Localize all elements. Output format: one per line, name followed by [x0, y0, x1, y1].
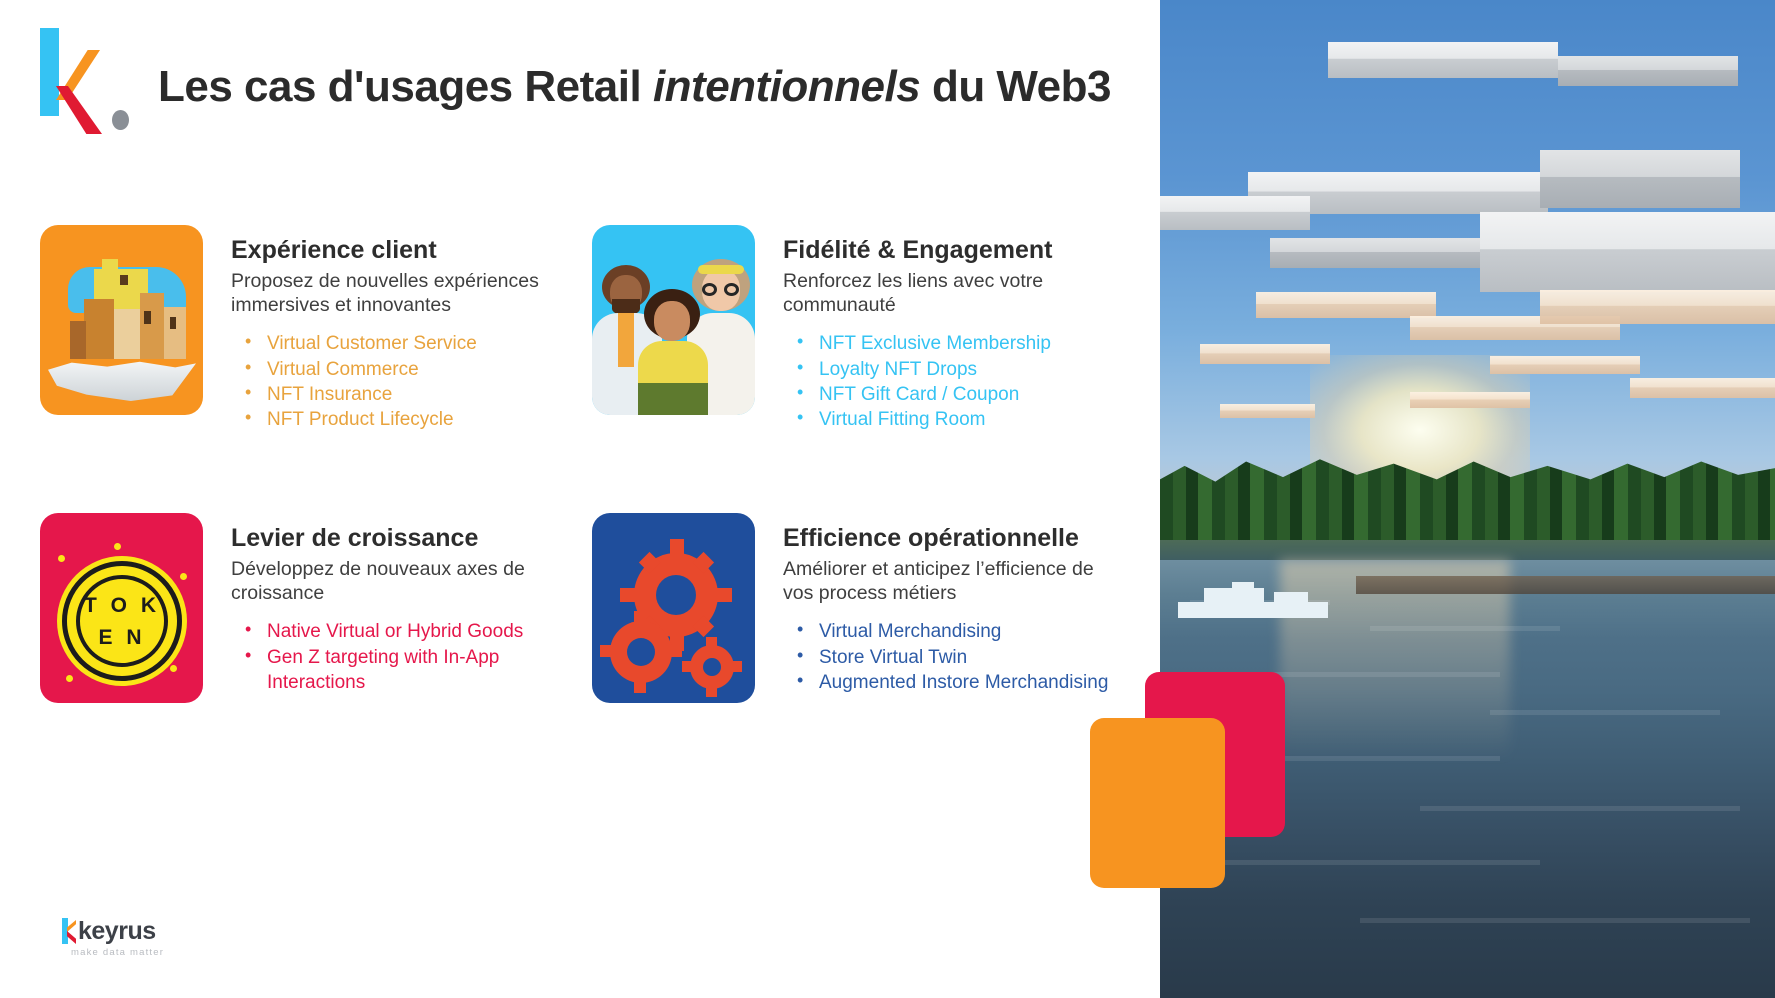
gears-icon [592, 513, 755, 703]
card-efficience-operationnelle: Efficience opérationnelle Améliorer et a… [592, 513, 1113, 703]
list-item: Native Virtual or Hybrid Goods [231, 619, 581, 644]
cloud-block [1160, 196, 1310, 230]
card-text: Fidélité & Engagement Renforcez les lien… [783, 225, 1113, 432]
cloud-block [1256, 292, 1436, 318]
voxel-sunset-lake-image [1160, 0, 1775, 998]
card-subtitle: Améliorer et anticipez l’efficience de v… [783, 557, 1113, 607]
list-item: Virtual Merchandising [783, 619, 1113, 644]
cloud-block [1220, 404, 1315, 418]
pier-structure [1356, 576, 1775, 594]
cloud-block [1410, 392, 1530, 408]
card-heading: Efficience opérationnelle [783, 525, 1113, 553]
coin-text-bottom: E N [67, 626, 177, 650]
list-item: Augmented Instore Merchandising [783, 670, 1113, 695]
floating-island-city-icon [40, 225, 203, 415]
card-heading: Fidélité & Engagement [783, 237, 1113, 265]
card-icon-tile [592, 225, 755, 415]
page-title: Les cas d'usages Retail intentionnels du… [158, 62, 1111, 112]
cloud-block [1328, 42, 1558, 78]
keyrus-logo-mark [40, 28, 140, 118]
list-item: Gen Z targeting with In-App Interactions [231, 645, 581, 696]
card-heading: Expérience client [231, 237, 561, 265]
water-highlight [1490, 710, 1720, 715]
keyrus-footer-logo: keyrus make data matter [62, 918, 242, 958]
ice-island [1178, 582, 1328, 634]
card-icon-tile [592, 513, 755, 703]
list-item: Loyalty NFT Drops [783, 357, 1113, 382]
coin-text-top: T O K [67, 594, 177, 618]
logo-cyan-bar [40, 28, 59, 116]
cloud-block [1200, 344, 1330, 364]
water-highlight [1250, 672, 1500, 677]
orange-rounded-square [1090, 718, 1225, 888]
card-experience-client: Expérience client Proposez de nouvelles … [40, 225, 561, 432]
cloud-block [1490, 356, 1640, 374]
cloud-block [1540, 290, 1775, 324]
logo-red-stroke [56, 86, 102, 134]
title-emphasis: intentionnels [653, 62, 920, 111]
list-item: NFT Product Lifecycle [231, 407, 561, 432]
card-bullet-list: Virtual Customer Service Virtual Commerc… [231, 331, 561, 432]
card-text: Efficience opérationnelle Améliorer et a… [783, 513, 1113, 703]
list-item: Virtual Fitting Room [783, 407, 1113, 432]
token-coin-icon: T O K E N [40, 513, 203, 703]
water-highlight [1370, 626, 1560, 631]
card-levier-de-croissance: T O K E N Levier de croissance Développe… [40, 513, 581, 703]
card-fidelite-engagement: Fidélité & Engagement Renforcez les lien… [592, 225, 1113, 432]
title-part-2: du Web3 [920, 62, 1111, 111]
logo-gray-dot [112, 110, 129, 130]
list-item: Virtual Commerce [231, 357, 561, 382]
list-item: NFT Exclusive Membership [783, 331, 1113, 356]
card-subtitle: Renforcez les liens avec votre communaut… [783, 269, 1113, 319]
card-text: Levier de croissance Développez de nouve… [231, 513, 581, 703]
card-bullet-list: NFT Exclusive Membership Loyalty NFT Dro… [783, 331, 1113, 432]
list-item: Store Virtual Twin [783, 645, 1113, 670]
cloud-block [1630, 378, 1775, 398]
group-of-people-icon [592, 225, 755, 415]
water-highlight [1420, 806, 1740, 811]
cloud-block [1558, 56, 1738, 86]
footer-logo-diagonals [69, 918, 76, 944]
card-text: Expérience client Proposez de nouvelles … [231, 225, 561, 432]
title-part-1: Les cas d'usages Retail [158, 62, 653, 111]
footer-logo-wordmark: keyrus [78, 920, 156, 944]
card-icon-tile [40, 225, 203, 415]
water-highlight [1360, 918, 1750, 923]
card-icon-tile: T O K E N [40, 513, 203, 703]
water-highlight [1180, 860, 1540, 865]
cloud-block [1480, 212, 1775, 292]
card-subtitle: Proposez de nouvelles expériences immers… [231, 269, 561, 319]
list-item: NFT Gift Card / Coupon [783, 382, 1113, 407]
card-bullet-list: Native Virtual or Hybrid Goods Gen Z tar… [231, 619, 581, 695]
footer-logo-tagline: make data matter [71, 947, 242, 958]
list-item: Virtual Customer Service [231, 331, 561, 356]
cloud-block [1540, 150, 1740, 208]
card-subtitle: Développez de nouveaux axes de croissanc… [231, 557, 561, 607]
list-item: NFT Insurance [231, 382, 561, 407]
card-bullet-list: Virtual Merchandising Store Virtual Twin… [783, 619, 1113, 695]
card-heading: Levier de croissance [231, 525, 581, 553]
